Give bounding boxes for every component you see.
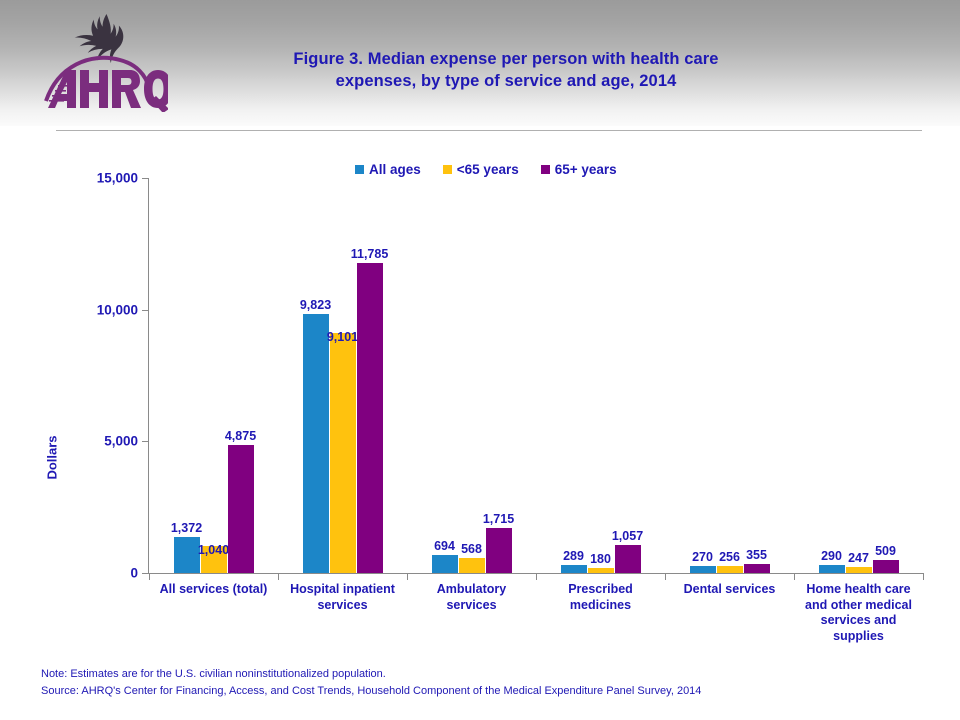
bar-0[interactable]: 289: [561, 178, 587, 573]
bar-0[interactable]: 270: [690, 178, 716, 573]
x-category-label-line: Prescribed: [530, 582, 671, 598]
bar-rect[interactable]: [615, 545, 641, 573]
x-tick-mark: [536, 573, 537, 580]
bar-rect[interactable]: [357, 263, 383, 573]
bar-2[interactable]: 4,875: [228, 178, 254, 573]
legend-item-0[interactable]: All ages: [355, 162, 421, 177]
bar-value-label: 9,101: [327, 330, 358, 344]
x-category-label-line: and other medical: [788, 598, 929, 614]
x-tick-mark: [278, 573, 279, 580]
bar-0[interactable]: 694: [432, 178, 458, 573]
bar-0[interactable]: 9,823: [303, 178, 329, 573]
bar-1[interactable]: 247: [846, 178, 872, 573]
x-category-label-line: supplies: [788, 629, 929, 645]
x-category-label-line: services and: [788, 613, 929, 629]
legend-label: 65+ years: [555, 162, 617, 177]
footnote-note: Note: Estimates are for the U.S. civilia…: [41, 666, 921, 683]
bar-1[interactable]: 568: [459, 178, 485, 573]
bar-group: 270256355: [665, 178, 794, 573]
bar-rect[interactable]: [873, 560, 899, 573]
legend-item-1[interactable]: <65 years: [443, 162, 519, 177]
bar-value-label: 180: [590, 552, 611, 566]
bar-value-label: 355: [746, 548, 767, 562]
bar-group: 290247509: [794, 178, 923, 573]
bar-rect[interactable]: [690, 566, 716, 573]
y-axis-tick-labels: 05,00010,00015,000: [66, 140, 138, 660]
header-divider: [56, 130, 922, 131]
y-tick-mark: [142, 178, 149, 179]
legend-swatch-icon: [541, 165, 550, 174]
bar-value-label: 1,715: [483, 512, 514, 526]
bar-group: 9,8239,10111,785: [278, 178, 407, 573]
x-axis-category-labels: All services (total)Hospital inpatientse…: [149, 582, 923, 662]
bar-value-label: 256: [719, 550, 740, 564]
bar-value-label: 1,057: [612, 529, 643, 543]
ahrq-logo: [36, 8, 168, 112]
bar-1[interactable]: 9,101: [330, 178, 356, 573]
bar-rect[interactable]: [561, 565, 587, 573]
bar-rect[interactable]: [486, 528, 512, 573]
bar-rect[interactable]: [330, 333, 356, 573]
bar-value-label: 9,823: [300, 298, 331, 312]
hhs-eagle-icon: [75, 14, 124, 63]
y-tick-label: 15,000: [66, 171, 138, 186]
bar-1[interactable]: 180: [588, 178, 614, 573]
x-tick-mark: [794, 573, 795, 580]
x-category-label-line: Home health care: [788, 582, 929, 598]
title-line-2: expenses, by type of service and age, 20…: [232, 70, 780, 92]
bar-group: 2891801,057: [536, 178, 665, 573]
bar-value-label: 289: [563, 549, 584, 563]
footnote-source: Source: AHRQ's Center for Financing, Acc…: [41, 683, 921, 700]
bar-2[interactable]: 11,785: [357, 178, 383, 573]
x-tick-mark: [407, 573, 408, 580]
legend-label: <65 years: [457, 162, 519, 177]
bar-2[interactable]: 509: [873, 178, 899, 573]
bar-rect[interactable]: [432, 555, 458, 573]
ahrq-logo-svg: [36, 8, 168, 112]
ahrq-wordmark: [48, 70, 168, 112]
bar-value-label: 290: [821, 549, 842, 563]
x-category-label-line: services: [401, 598, 542, 614]
title-line-1: Figure 3. Median expense per person with…: [232, 48, 780, 70]
x-category-label: Prescribedmedicines: [530, 582, 671, 613]
bar-value-label: 270: [692, 550, 713, 564]
bar-value-label: 509: [875, 544, 896, 558]
bar-rect[interactable]: [819, 565, 845, 573]
y-tick-label: 10,000: [66, 302, 138, 317]
plot-area: 1,3721,0404,8759,8239,10111,7856945681,7…: [149, 178, 923, 573]
bar-2[interactable]: 355: [744, 178, 770, 573]
x-category-label: Dental services: [659, 582, 800, 598]
bar-value-label: 568: [461, 542, 482, 556]
bar-rect[interactable]: [717, 566, 743, 573]
y-tick-label: 0: [66, 566, 138, 581]
bar-group: 1,3721,0404,875: [149, 178, 278, 573]
bar-group: 6945681,715: [407, 178, 536, 573]
bar-value-label: 694: [434, 539, 455, 553]
legend-swatch-icon: [355, 165, 364, 174]
y-tick-mark: [142, 573, 149, 574]
x-tick-mark: [923, 573, 924, 580]
bar-1[interactable]: 1,040: [201, 178, 227, 573]
bar-rect[interactable]: [744, 564, 770, 573]
x-category-label-line: Hospital inpatient: [272, 582, 413, 598]
x-category-label-line: Dental services: [659, 582, 800, 598]
bar-value-label: 1,040: [198, 543, 229, 557]
bar-value-label: 1,372: [171, 521, 202, 535]
bar-1[interactable]: 256: [717, 178, 743, 573]
bar-value-label: 4,875: [225, 429, 256, 443]
bar-rect[interactable]: [459, 558, 485, 573]
x-tick-mark: [665, 573, 666, 580]
x-category-label-line: services: [272, 598, 413, 614]
bar-rect[interactable]: [588, 568, 614, 573]
y-tick-mark: [142, 310, 149, 311]
y-tick-label: 5,000: [66, 434, 138, 449]
chart-legend: All ages<65 years65+ years: [355, 162, 617, 177]
bar-0[interactable]: 290: [819, 178, 845, 573]
bar-rect[interactable]: [303, 314, 329, 573]
x-tick-mark: [149, 573, 150, 580]
x-category-label-line: medicines: [530, 598, 671, 614]
bar-0[interactable]: 1,372: [174, 178, 200, 573]
bar-2[interactable]: 1,715: [486, 178, 512, 573]
x-category-label: All services (total): [143, 582, 284, 598]
bar-value-label: 11,785: [351, 247, 389, 261]
bar-rect[interactable]: [174, 537, 200, 573]
footnotes: Note: Estimates are for the U.S. civilia…: [41, 666, 921, 699]
y-tick-mark: [142, 441, 149, 442]
x-category-label-line: All services (total): [143, 582, 284, 598]
page-title: Figure 3. Median expense per person with…: [232, 48, 780, 93]
legend-label: All ages: [369, 162, 421, 177]
bar-2[interactable]: 1,057: [615, 178, 641, 573]
x-category-label: Hospital inpatientservices: [272, 582, 413, 613]
x-category-label: Ambulatoryservices: [401, 582, 542, 613]
x-category-label-line: Ambulatory: [401, 582, 542, 598]
y-axis-title: Dollars: [45, 398, 60, 518]
bar-value-label: 247: [848, 551, 869, 565]
bar-chart: All ages<65 years65+ years Dollars 05,00…: [0, 140, 960, 660]
legend-item-2[interactable]: 65+ years: [541, 162, 617, 177]
bar-rect[interactable]: [228, 445, 254, 573]
legend-swatch-icon: [443, 165, 452, 174]
bar-rect[interactable]: [846, 567, 872, 574]
x-category-label: Home health careand other medicalservice…: [788, 582, 929, 645]
